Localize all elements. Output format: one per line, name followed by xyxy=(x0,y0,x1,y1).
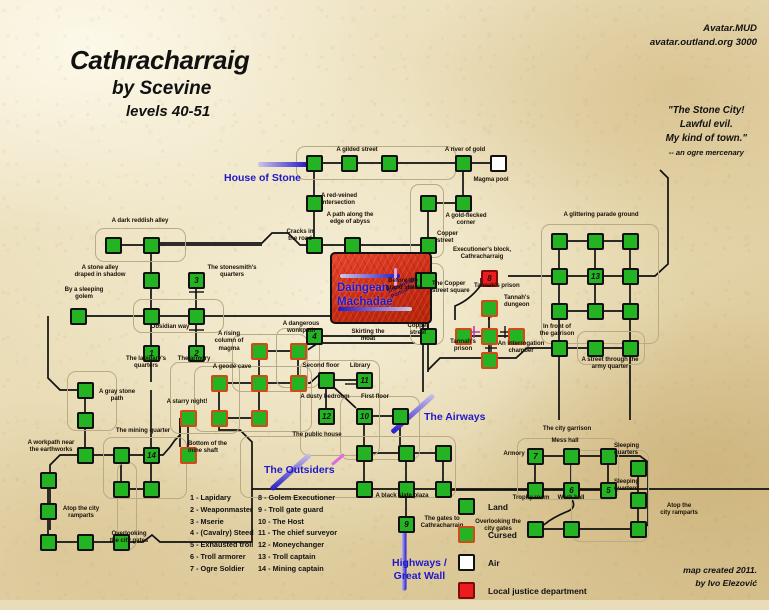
legend-row-air: Air xyxy=(458,554,587,571)
server-name: Avatar.MUD xyxy=(650,22,757,36)
room-starry[interactable] xyxy=(180,410,197,427)
room-number: 12 xyxy=(322,413,331,421)
quote-line-1: "The Stone City! xyxy=(666,104,747,118)
page-title: Cathracharraig xyxy=(70,45,249,76)
label-tannahs-dungeon: Tannah's dungeon xyxy=(504,294,544,309)
label-red-veined: A red-veined intersection xyxy=(321,192,381,207)
label-the-armory: The armory xyxy=(170,355,218,362)
room-gs1[interactable] xyxy=(306,155,323,172)
legend-label-air: Air xyxy=(488,558,500,568)
room-army1[interactable] xyxy=(587,340,604,357)
quote-line-3: My kind of town." xyxy=(666,132,747,146)
server-address: avatar.outland.org 3000 xyxy=(650,36,757,50)
label-mining-quarter: The mining quarter xyxy=(100,427,186,434)
room-gates[interactable]: 9 xyxy=(398,516,415,533)
room-wonk[interactable] xyxy=(290,343,307,360)
label-edge-of-abyss: A path along the edge of abyss xyxy=(312,211,388,226)
room-phlib[interactable]: 11 xyxy=(356,372,373,389)
zonelink-house-of-stone[interactable]: House of Stone xyxy=(224,172,301,185)
room-cen2[interactable] xyxy=(435,445,452,462)
room-darkalley1[interactable] xyxy=(105,237,122,254)
label-stone-alley: A stone alley draped in shadow xyxy=(64,264,136,279)
label-tannahs-prison: Tannah's prison xyxy=(443,338,483,353)
zonelink-airways[interactable]: The Airways xyxy=(424,411,485,424)
room-ph1f[interactable]: 10 xyxy=(356,408,373,425)
room-min1[interactable] xyxy=(113,447,130,464)
legend-label-cursed: Cursed xyxy=(488,530,517,540)
room-geo1[interactable] xyxy=(211,375,228,392)
room-pg1[interactable] xyxy=(551,233,568,250)
label-mine-shaft: Bottom of the mine shaft xyxy=(188,440,240,455)
room-darkalley2[interactable] xyxy=(143,237,160,254)
legend-numbers-column-1: 1 - Lapidary 2 - Weaponmaster 3 - Mserie… xyxy=(190,492,254,575)
room-gar2[interactable] xyxy=(563,448,580,465)
label-gold-flecked: A gold-flecked corner xyxy=(437,212,495,227)
label-city-garrison: The city garrison xyxy=(527,425,607,432)
label-copper-street-south: Copper street xyxy=(401,322,435,337)
room-gs2[interactable] xyxy=(341,155,358,172)
label-stonesmith: The stonesmith's quarters xyxy=(199,264,265,279)
house-of-stone-arrow xyxy=(258,162,308,167)
room-min2[interactable]: 14 xyxy=(143,447,160,464)
label-skirting-moat: Skirting the moat xyxy=(340,328,396,343)
room-copper2[interactable] xyxy=(420,237,437,254)
label-cracks-in-road: Cracks in the road xyxy=(278,228,322,243)
label-starry-night: A starry night! xyxy=(158,398,216,405)
room-pg9[interactable] xyxy=(622,303,639,320)
room-number: 10 xyxy=(360,413,369,421)
label-sleeping-golem: By a sleeping golem xyxy=(56,286,112,301)
room-golem[interactable] xyxy=(70,308,87,325)
room-pg8[interactable] xyxy=(587,303,604,320)
room-pg7[interactable] xyxy=(551,303,568,320)
room-ram2[interactable] xyxy=(630,492,647,509)
room-number: 11 xyxy=(360,377,368,385)
room-geo5[interactable] xyxy=(251,410,268,427)
flavor-quote: "The Stone City! Lawful evil. My kind of… xyxy=(666,104,747,158)
room-phbed[interactable]: 12 xyxy=(318,408,335,425)
label-gray-stone-path: A gray stone path xyxy=(92,388,142,403)
zonelink-outsiders[interactable]: The Outsiders xyxy=(264,464,335,477)
label-armory: Armory xyxy=(500,450,528,457)
legend-row-justice: Local justice department xyxy=(458,582,587,599)
legend-row-cursed: Cursed xyxy=(458,526,587,543)
room-number: 5 xyxy=(606,487,610,495)
label-workpath-earthworks: A workpath near the earthworks xyxy=(20,439,82,454)
room-ramp4[interactable] xyxy=(77,534,94,551)
legend-label-justice: Local justice department xyxy=(488,586,587,596)
room-pg3[interactable] xyxy=(622,233,639,250)
room-gar1[interactable]: 7 xyxy=(527,448,544,465)
label-first-floor: First floor xyxy=(352,393,398,400)
server-info: Avatar.MUD avatar.outland.org 3000 xyxy=(650,22,757,50)
label-sleeping-quarters-1: Sleeping quarters xyxy=(614,442,654,457)
quote-attribution: -- an ogre mercenary xyxy=(666,147,747,158)
legend-numbers-column-2: 8 - Golem Executioner 9 - Troll gate gua… xyxy=(258,492,337,575)
label-dangerous-wonkpath: A dangerous wonkpath xyxy=(272,320,330,335)
legend-colors: Land Cursed Air Local justice department xyxy=(458,498,587,610)
label-rising-magma: A rising column of magma xyxy=(208,330,250,352)
quote-line-2: Lawful evil. xyxy=(666,118,747,132)
label-executioners-block: Executioner's block, Cathracharraig xyxy=(443,246,521,261)
room-magmacol[interactable] xyxy=(251,343,268,360)
legend-swatch-air xyxy=(458,554,475,571)
label-black-slate-plaza: A black slate plaza xyxy=(367,492,437,499)
map-author: by Scevine xyxy=(112,78,249,100)
legend-row-land: Land xyxy=(458,498,587,515)
room-geo2[interactable] xyxy=(251,375,268,392)
room-gray2[interactable] xyxy=(77,412,94,429)
label-overlooking-gates-w: Overlooking the city gates xyxy=(100,530,158,545)
room-magma[interactable] xyxy=(490,155,507,172)
label-dark-reddish-alley: A dark reddish alley xyxy=(95,217,185,224)
label-tannahs-prison-top: Tannah's prison xyxy=(474,282,530,289)
room-goldfleck[interactable] xyxy=(455,195,472,212)
room-number: 14 xyxy=(147,452,156,460)
credit-line-2: by Ivo Elezović xyxy=(683,577,757,590)
label-sleeping-quarters-2: Sleeping quarters xyxy=(614,478,654,493)
label-second-floor: Second floor xyxy=(298,362,344,369)
room-number: 9 xyxy=(404,521,408,529)
map-canvas: Daingean Machadae Drawbridge / Portculli… xyxy=(0,0,769,600)
zonelink-great-wall[interactable]: Highways / Great Wall xyxy=(392,557,447,582)
label-atop-ramparts-east: Atop the city ramparts xyxy=(654,502,704,517)
room-pg2[interactable] xyxy=(587,233,604,250)
room-ramp3[interactable] xyxy=(40,534,57,551)
legend-swatch-justice xyxy=(458,582,475,599)
room-number: 13 xyxy=(591,273,600,281)
room-min3[interactable] xyxy=(113,481,130,498)
label-river-of-gold: A river of gold xyxy=(434,146,496,153)
room-stonealley[interactable] xyxy=(143,272,160,289)
legend-swatch-land xyxy=(458,498,475,515)
label-lapidary-quarters: The lapidary's quarters xyxy=(117,355,175,370)
map-levels: levels 40-51 xyxy=(126,103,249,120)
room-cen5[interactable] xyxy=(435,481,452,498)
label-geode-cave: A geode cave xyxy=(204,363,260,370)
label-interrogation: An interrogation chamber xyxy=(490,340,552,355)
room-ram1[interactable] xyxy=(630,460,647,477)
room-ram3[interactable] xyxy=(630,521,647,538)
map-credit: map created 2011. by Ivo Elezović xyxy=(683,564,757,590)
label-dusty-bedroom: A dusty bedroom xyxy=(294,393,356,400)
room-ph2f[interactable] xyxy=(318,372,335,389)
label-public-house: The public house xyxy=(286,431,348,438)
room-ph3[interactable] xyxy=(356,445,373,462)
room-tdun[interactable] xyxy=(481,300,498,317)
label-mess-hall: Mess hall xyxy=(543,437,587,444)
room-abyss[interactable] xyxy=(344,237,361,254)
label-copper-street-north: Copper street xyxy=(437,230,471,245)
room-copper1[interactable] xyxy=(420,195,437,212)
room-gs4[interactable] xyxy=(455,155,472,172)
room-ramp1[interactable] xyxy=(40,472,57,489)
label-parade-ground: A glittering parade ground xyxy=(546,211,656,218)
room-cen1[interactable] xyxy=(398,445,415,462)
label-obsidian-way: Obsidian way xyxy=(138,323,202,330)
label-gilded-street: A gilded street xyxy=(327,146,387,153)
room-geo3[interactable] xyxy=(290,375,307,392)
label-magma-pool: Magma pool xyxy=(467,176,515,183)
label-grand-stairs: Before the grand stairs xyxy=(375,277,431,292)
legend-label-land: Land xyxy=(488,502,508,512)
label-library: Library xyxy=(344,362,376,369)
room-number: 7 xyxy=(533,453,537,461)
map-title-block: Cathracharraig by Scevine levels 40-51 xyxy=(70,45,249,120)
room-gs3[interactable] xyxy=(381,155,398,172)
label-army-quarter: A street through the army quarter xyxy=(568,356,652,371)
room-pg5[interactable]: 13 xyxy=(587,268,604,285)
room-pg4[interactable] xyxy=(551,268,568,285)
room-min4[interactable] xyxy=(143,481,160,498)
label-in-front-garrison: In front of the garrison xyxy=(534,323,580,338)
room-geo4[interactable] xyxy=(211,410,228,427)
room-garfront[interactable] xyxy=(551,340,568,357)
room-phr[interactable] xyxy=(392,408,409,425)
label-atop-city-ramparts: Atop the city ramparts xyxy=(52,505,110,520)
credit-line-1: map created 2011. xyxy=(683,564,757,577)
room-army2[interactable] xyxy=(622,340,639,357)
room-pg6[interactable] xyxy=(622,268,639,285)
legend-swatch-cursed xyxy=(458,526,475,543)
